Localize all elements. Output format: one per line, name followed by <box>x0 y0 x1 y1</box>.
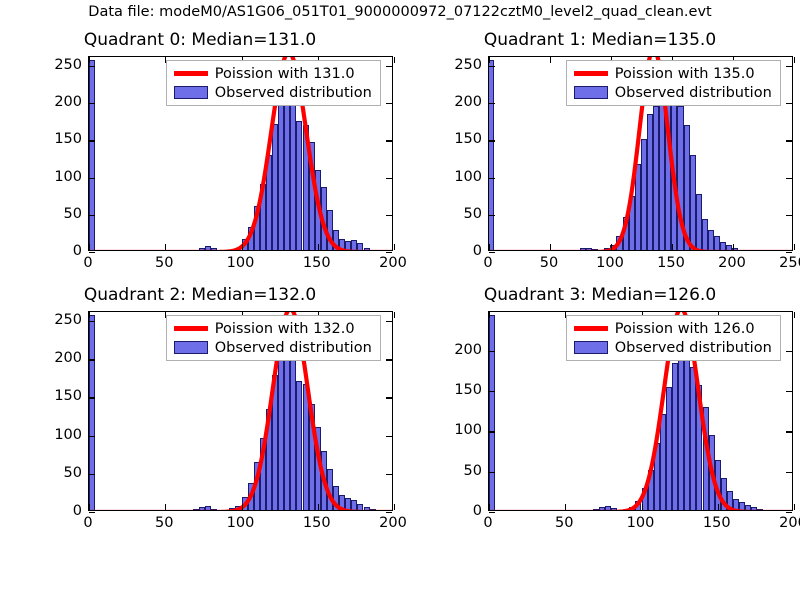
y-tick-label: 250 <box>54 57 82 73</box>
x-tick-mark <box>89 504 90 510</box>
y-tick-mark <box>489 66 495 67</box>
x-tick-mark <box>394 504 395 510</box>
x-tick-label: 50 <box>155 255 173 271</box>
x-tick-mark <box>489 57 490 63</box>
x-tick-label: 200 <box>718 255 746 271</box>
quadrant-2-legend[interactable]: Poission with 132.0Observed distribution <box>166 315 381 361</box>
y-tick-label: 50 <box>464 206 482 222</box>
legend-line-swatch-icon <box>174 71 208 76</box>
x-tick-mark <box>394 312 395 318</box>
y-tick-label: 200 <box>454 94 482 110</box>
x-tick-label: 0 <box>483 255 492 271</box>
y-tick-label: 150 <box>54 131 82 147</box>
y-tick-mark <box>386 140 392 141</box>
y-tick-mark <box>786 351 792 352</box>
legend-patch-swatch-icon <box>574 86 608 99</box>
y-tick-label: 100 <box>454 422 482 438</box>
y-tick-label: 150 <box>454 382 482 398</box>
legend-label-observed: Observed distribution <box>215 340 372 356</box>
legend-line-swatch-icon <box>574 326 608 331</box>
y-tick-label: 50 <box>464 463 482 479</box>
legend-label-poisson: Poission with 132.0 <box>215 321 355 337</box>
legend-item-observed: Observed distribution <box>572 338 775 357</box>
y-tick-label: 150 <box>454 131 482 147</box>
y-tick-mark <box>89 140 95 141</box>
x-tick-label: 100 <box>227 255 255 271</box>
y-tick-mark <box>786 66 792 67</box>
y-tick-mark <box>489 103 495 104</box>
y-tick-label: 0 <box>73 503 82 519</box>
y-tick-mark <box>386 215 392 216</box>
x-tick-mark <box>242 244 243 250</box>
y-tick-label: 200 <box>54 350 82 366</box>
x-tick-mark <box>489 244 490 250</box>
x-tick-label: 50 <box>540 255 558 271</box>
x-tick-mark <box>242 504 243 510</box>
y-tick-mark <box>786 252 792 253</box>
x-tick-label: 150 <box>657 255 685 271</box>
y-tick-label: 100 <box>54 427 82 443</box>
quadrant-2-title: Quadrant 2: Median=132.0 <box>0 285 400 305</box>
x-tick-label: 0 <box>483 515 492 531</box>
quadrant-0-legend[interactable]: Poission with 131.0Observed distribution <box>166 60 381 106</box>
x-tick-mark <box>165 504 166 510</box>
y-tick-mark <box>386 178 392 179</box>
legend-item-observed: Observed distribution <box>172 338 375 357</box>
x-tick-mark <box>733 244 734 250</box>
y-tick-mark <box>89 359 95 360</box>
legend-label-poisson: Poission with 131.0 <box>215 66 355 82</box>
legend-item-poisson: Poission with 131.0 <box>172 64 375 83</box>
y-tick-label: 250 <box>54 312 82 328</box>
legend-label-poisson: Poission with 126.0 <box>615 321 755 337</box>
y-tick-mark <box>786 215 792 216</box>
y-tick-mark <box>489 472 495 473</box>
x-tick-label: 150 <box>703 515 731 531</box>
x-tick-mark <box>89 57 90 63</box>
x-tick-mark <box>89 312 90 318</box>
y-tick-label: 0 <box>473 503 482 519</box>
x-tick-label: 100 <box>596 255 624 271</box>
y-tick-label: 150 <box>54 388 82 404</box>
x-tick-label: 150 <box>303 515 331 531</box>
x-tick-mark <box>489 312 490 318</box>
y-tick-mark <box>489 351 495 352</box>
x-tick-mark <box>318 244 319 250</box>
x-tick-mark <box>394 244 395 250</box>
y-tick-label: 250 <box>454 57 482 73</box>
x-tick-mark <box>165 244 166 250</box>
panel-quadrant-1: Quadrant 1: Median=135.00501001502002500… <box>400 30 800 285</box>
y-tick-mark <box>489 431 495 432</box>
figure-suptitle: Data file: modeM0/AS1G06_051T01_90000009… <box>0 4 800 20</box>
panel-quadrant-3: Quadrant 3: Median=126.00501001502000501… <box>400 285 800 545</box>
x-tick-mark <box>794 312 795 318</box>
y-tick-mark <box>386 436 392 437</box>
quadrant-0-title: Quadrant 0: Median=131.0 <box>0 30 400 50</box>
y-tick-mark <box>386 103 392 104</box>
y-tick-mark <box>89 66 95 67</box>
legend-patch-swatch-icon <box>174 86 208 99</box>
x-tick-mark <box>550 244 551 250</box>
quadrant-1-title: Quadrant 1: Median=135.0 <box>400 30 800 50</box>
x-tick-label: 0 <box>83 255 92 271</box>
x-tick-label: 0 <box>83 515 92 531</box>
y-tick-label: 100 <box>454 169 482 185</box>
panel-quadrant-0: Quadrant 0: Median=131.00501001502002500… <box>0 30 400 285</box>
x-tick-mark <box>794 57 795 63</box>
x-tick-label: 150 <box>303 255 331 271</box>
y-tick-mark <box>489 252 495 253</box>
x-tick-mark <box>318 504 319 510</box>
y-tick-mark <box>386 252 392 253</box>
y-tick-mark <box>89 397 95 398</box>
y-tick-mark <box>89 474 95 475</box>
y-tick-mark <box>786 103 792 104</box>
quadrant-1-legend[interactable]: Poission with 135.0Observed distribution <box>566 60 781 106</box>
legend-label-observed: Observed distribution <box>615 340 772 356</box>
y-tick-mark <box>786 178 792 179</box>
y-tick-mark <box>386 359 392 360</box>
x-tick-label: 50 <box>155 515 173 531</box>
legend-item-poisson: Poission with 126.0 <box>572 319 775 338</box>
x-tick-mark <box>89 244 90 250</box>
legend-patch-swatch-icon <box>174 341 208 354</box>
y-tick-mark <box>386 512 392 513</box>
y-tick-mark <box>89 252 95 253</box>
x-tick-mark <box>794 244 795 250</box>
x-tick-mark <box>550 57 551 63</box>
y-tick-mark <box>786 140 792 141</box>
y-tick-label: 100 <box>54 169 82 185</box>
legend-item-observed: Observed distribution <box>172 83 375 102</box>
x-tick-mark <box>642 504 643 510</box>
x-tick-label: 100 <box>227 515 255 531</box>
y-tick-mark <box>386 66 392 67</box>
y-tick-mark <box>489 512 495 513</box>
y-tick-mark <box>489 140 495 141</box>
x-tick-label: 100 <box>627 515 655 531</box>
x-tick-mark <box>489 504 490 510</box>
y-tick-mark <box>89 178 95 179</box>
legend-label-poisson: Poission with 135.0 <box>615 66 755 82</box>
legend-label-observed: Observed distribution <box>615 85 772 101</box>
legend-patch-swatch-icon <box>574 341 608 354</box>
x-tick-mark <box>565 504 566 510</box>
x-tick-mark <box>611 244 612 250</box>
legend-label-observed: Observed distribution <box>215 85 372 101</box>
x-tick-label: 200 <box>779 515 800 531</box>
y-tick-mark <box>89 436 95 437</box>
y-tick-label: 0 <box>473 243 482 259</box>
y-tick-mark <box>89 512 95 513</box>
legend-line-swatch-icon <box>174 326 208 331</box>
legend-item-poisson: Poission with 135.0 <box>572 64 775 83</box>
legend-line-swatch-icon <box>574 71 608 76</box>
quadrant-3-title: Quadrant 3: Median=126.0 <box>400 285 800 305</box>
x-tick-mark <box>718 504 719 510</box>
x-tick-mark <box>394 57 395 63</box>
x-tick-mark <box>794 504 795 510</box>
y-tick-mark <box>386 321 392 322</box>
y-tick-mark <box>489 391 495 392</box>
y-tick-mark <box>786 391 792 392</box>
y-tick-mark <box>386 397 392 398</box>
y-tick-label: 50 <box>64 465 82 481</box>
y-tick-mark <box>786 431 792 432</box>
legend-item-poisson: Poission with 132.0 <box>172 319 375 338</box>
y-tick-mark <box>786 472 792 473</box>
y-tick-mark <box>89 215 95 216</box>
panel-quadrant-2: Quadrant 2: Median=132.00501001502002500… <box>0 285 400 545</box>
y-tick-mark <box>489 178 495 179</box>
figure-canvas: Data file: modeM0/AS1G06_051T01_90000009… <box>0 0 800 600</box>
y-tick-mark <box>386 474 392 475</box>
y-tick-mark <box>489 215 495 216</box>
legend-item-observed: Observed distribution <box>572 83 775 102</box>
x-tick-mark <box>672 244 673 250</box>
quadrant-3-legend[interactable]: Poission with 126.0Observed distribution <box>566 315 781 361</box>
y-tick-mark <box>786 512 792 513</box>
y-tick-label: 0 <box>73 243 82 259</box>
y-tick-label: 50 <box>64 206 82 222</box>
y-tick-mark <box>89 103 95 104</box>
x-tick-label: 250 <box>779 255 800 271</box>
y-tick-label: 200 <box>54 94 82 110</box>
x-tick-label: 50 <box>555 515 573 531</box>
y-tick-label: 200 <box>454 342 482 358</box>
y-tick-mark <box>89 321 95 322</box>
